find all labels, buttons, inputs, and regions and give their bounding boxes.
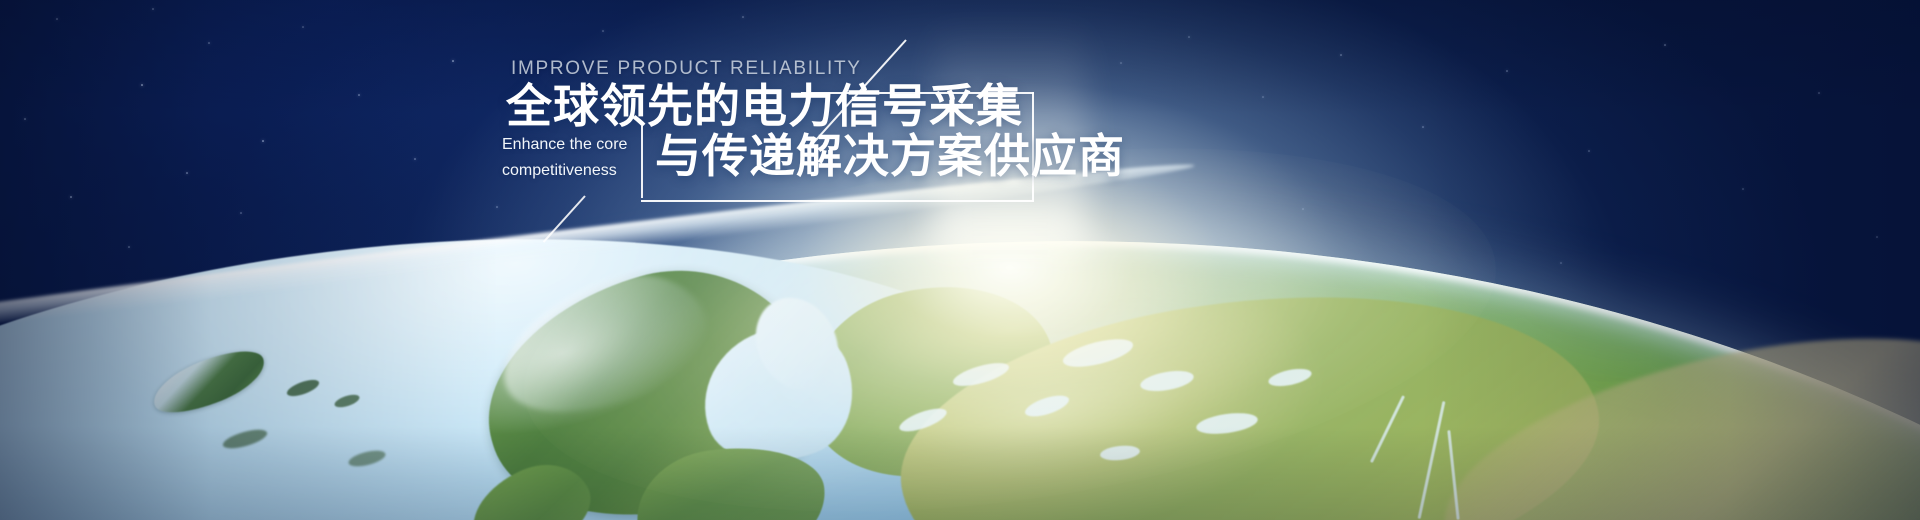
banner-headline-line2: 与传递解决方案供应商 (655, 130, 1125, 182)
hero-banner: IMPROVE PRODUCT RELIABILITY 全球领先的电力信号采集 … (0, 0, 1920, 520)
banner-subtext: Enhance the core competitiveness (502, 132, 632, 184)
vertical-divider (641, 126, 643, 198)
banner-content: IMPROVE PRODUCT RELIABILITY 全球领先的电力信号采集 … (0, 0, 1920, 520)
diagonal-accent-bottom (543, 195, 586, 242)
banner-eyebrow-text: IMPROVE PRODUCT RELIABILITY (511, 58, 862, 80)
frame-bottom-line (641, 200, 1034, 202)
banner-headline-line1: 全球领先的电力信号采集 (506, 80, 1023, 132)
